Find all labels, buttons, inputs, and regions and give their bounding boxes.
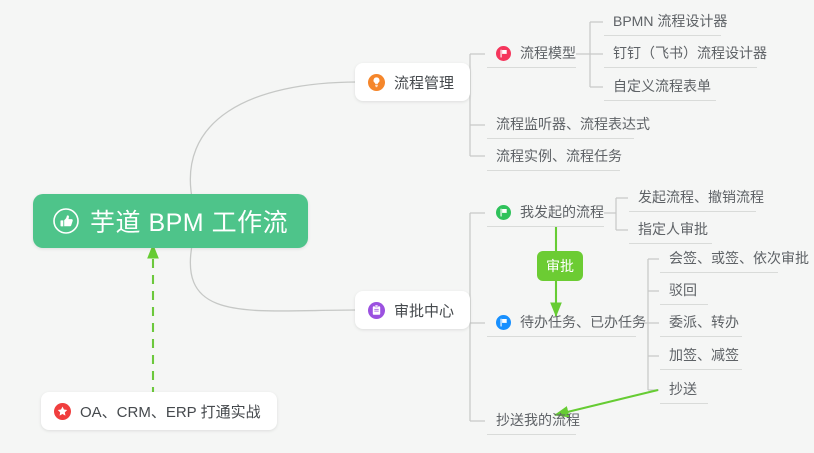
node-delegate-transfer[interactable]: 委派、转办 — [660, 308, 742, 337]
node-label-start-cancel-process: 发起流程、撤销流程 — [638, 187, 764, 207]
footnote-node-integration[interactable]: OA、CRM、ERP 打通实战 — [41, 392, 277, 430]
node-my-initiated-process[interactable]: 我发起的流程 — [487, 198, 604, 227]
node-label-bpmn-designer: BPMN 流程设计器 — [613, 11, 727, 31]
node-label-delegate-transfer: 委派、转办 — [669, 312, 739, 332]
thumbs-up-icon — [53, 208, 79, 234]
node-label-reject: 驳回 — [669, 280, 697, 300]
node-label-assignee-approval: 指定人审批 — [638, 219, 708, 239]
approval-tag[interactable]: 审批 — [537, 251, 583, 281]
node-add-remove-sign[interactable]: 加签、减签 — [660, 341, 742, 370]
node-label-dingtalk-feishu-designer: 钉钉（飞书）流程设计器 — [613, 43, 767, 63]
branch-label-process-management: 流程管理 — [394, 72, 454, 93]
flag-icon — [496, 205, 511, 220]
node-label-process-model: 流程模型 — [520, 43, 576, 63]
node-carbon-copy[interactable]: 抄送 — [660, 375, 708, 404]
node-process-model[interactable]: 流程模型 — [487, 39, 576, 68]
node-countersign-or-sequential[interactable]: 会签、或签、依次审批 — [660, 244, 778, 273]
node-label-my-initiated-process: 我发起的流程 — [520, 202, 604, 222]
flag-icon — [496, 315, 511, 330]
node-label-custom-process-form: 自定义流程表单 — [613, 76, 711, 96]
node-label-add-remove-sign: 加签、减签 — [669, 345, 739, 365]
node-todo-done-tasks[interactable]: 待办任务、已办任务 — [487, 308, 636, 337]
mindmap-canvas: 芋道 BPM 工作流 流程管理 流程模型 BPMN 流程设计器 钉钉（飞书）流 — [0, 0, 814, 453]
node-dingtalk-feishu-designer[interactable]: 钉钉（飞书）流程设计器 — [604, 39, 757, 68]
node-label-countersign-or-sequential: 会签、或签、依次审批 — [669, 248, 809, 268]
node-label-process-listener-expression: 流程监听器、流程表达式 — [496, 114, 650, 134]
node-label-cc-to-me-process: 抄送我的流程 — [496, 410, 580, 430]
node-process-instance-task[interactable]: 流程实例、流程任务 — [487, 142, 620, 171]
footnote-label-integration: OA、CRM、ERP 打通实战 — [80, 401, 261, 422]
clipboard-icon — [368, 302, 385, 319]
branch-node-approval-center[interactable]: 审批中心 — [355, 291, 470, 329]
node-label-process-instance-task: 流程实例、流程任务 — [496, 146, 622, 166]
node-bpmn-designer[interactable]: BPMN 流程设计器 — [604, 7, 721, 36]
node-process-listener-expression[interactable]: 流程监听器、流程表达式 — [487, 110, 634, 139]
node-custom-process-form[interactable]: 自定义流程表单 — [604, 72, 716, 101]
node-cc-to-me-process[interactable]: 抄送我的流程 — [487, 406, 576, 435]
node-start-cancel-process[interactable]: 发起流程、撤销流程 — [629, 183, 756, 212]
node-label-carbon-copy: 抄送 — [669, 379, 697, 399]
flag-icon — [496, 46, 511, 61]
approval-tag-label: 审批 — [546, 256, 574, 276]
star-icon — [54, 403, 71, 420]
root-node[interactable]: 芋道 BPM 工作流 — [33, 194, 308, 248]
node-label-todo-done-tasks: 待办任务、已办任务 — [520, 312, 646, 332]
branch-node-process-management[interactable]: 流程管理 — [355, 63, 470, 101]
branch-label-approval-center: 审批中心 — [394, 300, 454, 321]
node-reject[interactable]: 驳回 — [660, 276, 708, 305]
lightbulb-icon — [368, 74, 385, 91]
node-assignee-approval[interactable]: 指定人审批 — [629, 215, 712, 244]
root-label: 芋道 BPM 工作流 — [90, 203, 288, 239]
